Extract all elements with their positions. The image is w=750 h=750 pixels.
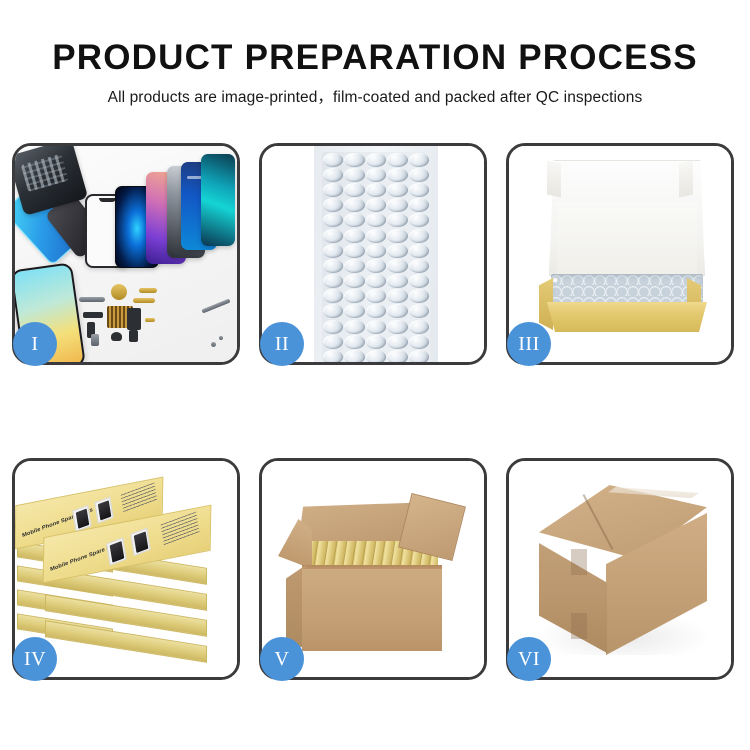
part-bracket [127, 308, 141, 330]
bubble [323, 183, 343, 197]
bubble [344, 168, 364, 182]
lid-tab-left [547, 161, 561, 198]
bubble [409, 183, 429, 197]
bubble [387, 213, 407, 227]
page-subtitle: All products are image-printed，film-coat… [0, 85, 750, 107]
carton-notch-bottom [571, 613, 587, 639]
product-preparation-infographic: PRODUCT PREPARATION PROCESS All products… [0, 0, 750, 750]
bubble [409, 213, 429, 227]
part-flex-cable-b [133, 298, 155, 303]
carton-notch-top [571, 549, 587, 575]
bubble [409, 168, 429, 182]
bubble [344, 198, 364, 212]
bubble [409, 350, 429, 362]
bubble [366, 198, 386, 212]
bubble [323, 213, 343, 227]
step-panel-5: V [259, 458, 487, 680]
bubble [387, 304, 407, 318]
step-panel-1: I [12, 143, 240, 365]
part-ribbon [145, 318, 155, 322]
bubble [409, 304, 429, 318]
part-speaker-coil [111, 284, 127, 300]
bubble [409, 289, 429, 303]
bubble [387, 274, 407, 288]
bubble [366, 304, 386, 318]
part-flex-cable-a [139, 288, 157, 293]
bubble [366, 350, 386, 362]
bubble [366, 289, 386, 303]
bubble [344, 213, 364, 227]
teal-swirl-phone [201, 154, 235, 246]
part-tweezers [201, 299, 230, 314]
bubble [387, 244, 407, 258]
bubble [366, 335, 386, 349]
part-screw-b [219, 336, 223, 340]
bubble [366, 213, 386, 227]
bubble [323, 244, 343, 258]
bubble [344, 244, 364, 258]
step-badge-4: IV [13, 637, 57, 681]
step-panel-6: VI [506, 458, 734, 680]
bubble [323, 274, 343, 288]
lid-tab-right [679, 161, 693, 198]
bubble [409, 320, 429, 334]
header: PRODUCT PREPARATION PROCESS All products… [0, 0, 750, 130]
step-panel-4: Mobile Phone Spare Parts Mobile Phone Sp… [12, 458, 240, 680]
part-antenna-strip [79, 297, 105, 302]
bubble [387, 198, 407, 212]
bubble [409, 244, 429, 258]
bubble [387, 350, 407, 362]
stack-lid-front-photo-a [106, 537, 126, 565]
bubble [344, 274, 364, 288]
bubble [366, 183, 386, 197]
part-camera-module [129, 330, 138, 342]
step-badge-2: II [260, 322, 304, 366]
bubble [366, 274, 386, 288]
stack-lid-front-photo-b [130, 528, 150, 556]
bubble-wrapped-contents [551, 274, 703, 304]
bubble [366, 259, 386, 273]
bubble [344, 289, 364, 303]
bubble [344, 229, 364, 243]
bubble [387, 320, 407, 334]
carton-front-face [302, 569, 442, 651]
step-panel-3: III [506, 143, 734, 365]
box-wall-front [547, 302, 707, 332]
stack-lid-back-photo-b [94, 497, 113, 524]
bubble [323, 335, 343, 349]
bubble [323, 153, 343, 167]
part-connector-a [83, 312, 103, 318]
steps-grid: I II [12, 140, 738, 740]
bubble [366, 153, 386, 167]
bubble-grid [322, 152, 430, 362]
step-badge-6: VI [507, 637, 551, 681]
bubble [387, 168, 407, 182]
bubble [409, 229, 429, 243]
bubble [409, 198, 429, 212]
bubble [344, 335, 364, 349]
page-title: PRODUCT PREPARATION PROCESS [0, 38, 750, 78]
carton-flap-left [278, 519, 312, 569]
bubble [387, 259, 407, 273]
step-badge-3: III [507, 322, 551, 366]
bubble [387, 289, 407, 303]
bubble [344, 320, 364, 334]
bubble [323, 350, 343, 362]
bubble [344, 304, 364, 318]
bubble [366, 168, 386, 182]
stack-lid-back-text-lines [121, 483, 158, 515]
part-speaker-module [111, 332, 122, 341]
bubble [323, 259, 343, 273]
bubble [323, 289, 343, 303]
step-panel-2: II [259, 143, 487, 365]
bubble [344, 153, 364, 167]
part-screw-a [211, 342, 216, 347]
part-sim-tray [91, 334, 99, 346]
bubble [344, 350, 364, 362]
bubble [409, 335, 429, 349]
bubble [387, 335, 407, 349]
bubble [323, 320, 343, 334]
bubble [323, 229, 343, 243]
bubble [323, 304, 343, 318]
bubble [366, 320, 386, 334]
step-badge-5: V [260, 637, 304, 681]
bubble [387, 229, 407, 243]
bubble [344, 259, 364, 273]
step-badge-1: I [13, 322, 57, 366]
stack-lid-front-text-lines [161, 512, 200, 546]
foam-sheet [557, 202, 697, 274]
bubble [387, 153, 407, 167]
bubble [409, 153, 429, 167]
bubble [409, 274, 429, 288]
bubble [387, 183, 407, 197]
bubble [366, 229, 386, 243]
bubble [409, 259, 429, 273]
bubble [323, 168, 343, 182]
bubble [344, 183, 364, 197]
bubble [323, 198, 343, 212]
bubble [366, 244, 386, 258]
